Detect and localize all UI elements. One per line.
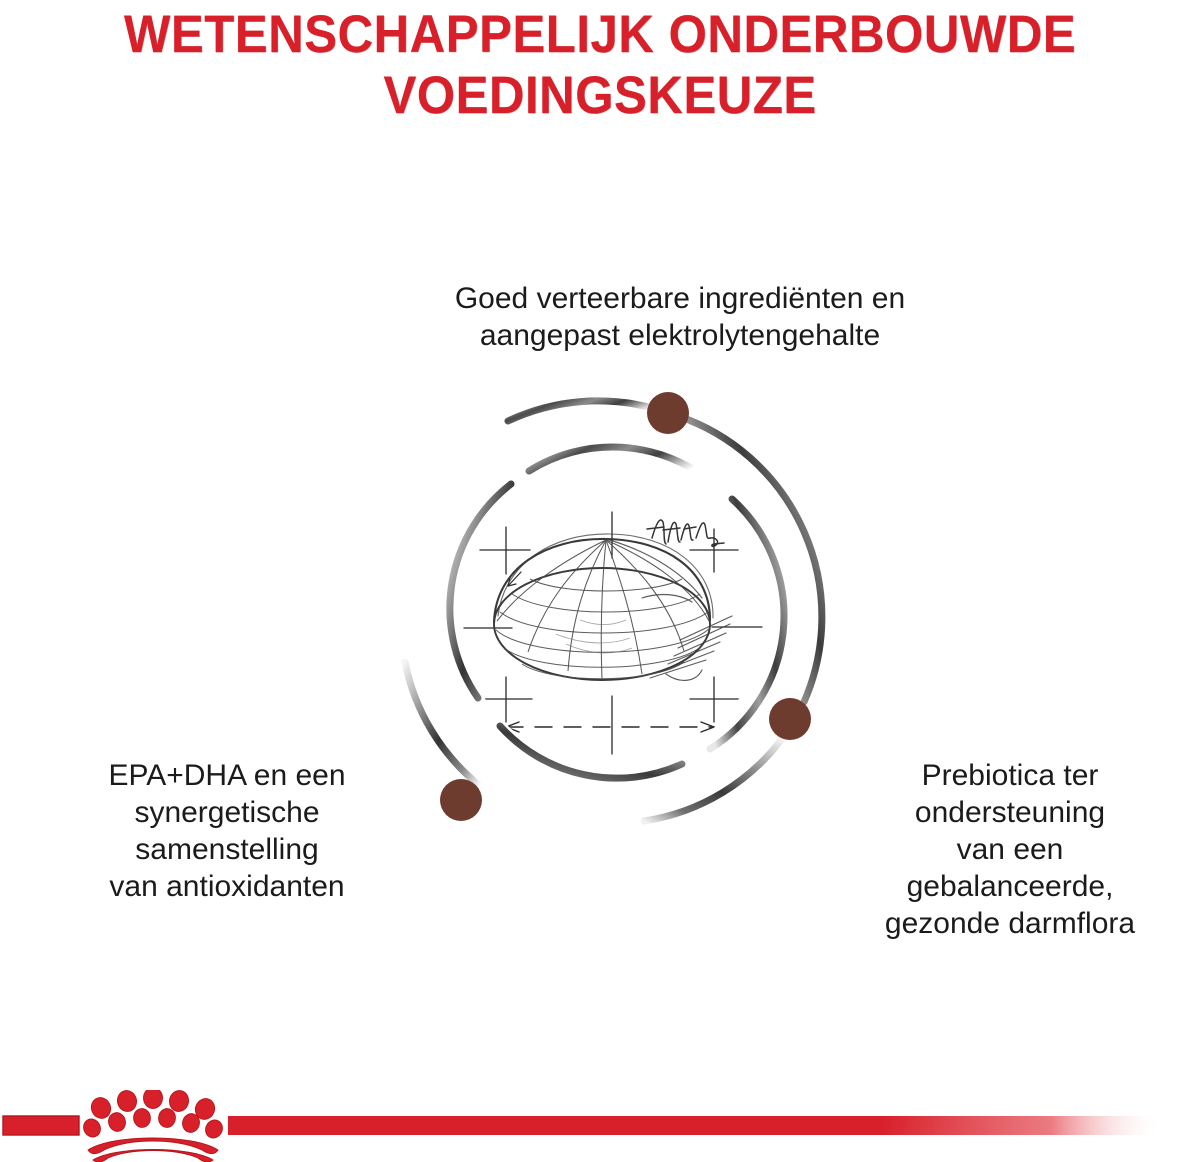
callout-left-antioxidants: EPA+DHA en een synergetische samenstelli… xyxy=(42,758,412,906)
footer-logo-band xyxy=(0,1090,1200,1162)
node-dot-top-right xyxy=(647,392,689,434)
royal-canin-crown-logo xyxy=(80,1090,225,1162)
callout-top-digestibility: Goed verteerbare ingrediënten en aangepa… xyxy=(330,281,1030,355)
ring-outer xyxy=(405,401,822,821)
footer-bar-left xyxy=(3,1116,79,1135)
node-dot-bottom-right xyxy=(769,698,811,740)
central-diagram xyxy=(380,372,850,842)
kibble-sketch xyxy=(464,512,762,754)
footer-bar-right xyxy=(228,1116,1163,1135)
node-dot-bottom-left xyxy=(440,779,482,821)
page-title: WETENSCHAPPELIJK ONDERBOUWDE VOEDINGSKEU… xyxy=(42,4,1158,127)
callout-right-prebiotics: Prebiotica ter ondersteuning van een geb… xyxy=(830,758,1190,942)
